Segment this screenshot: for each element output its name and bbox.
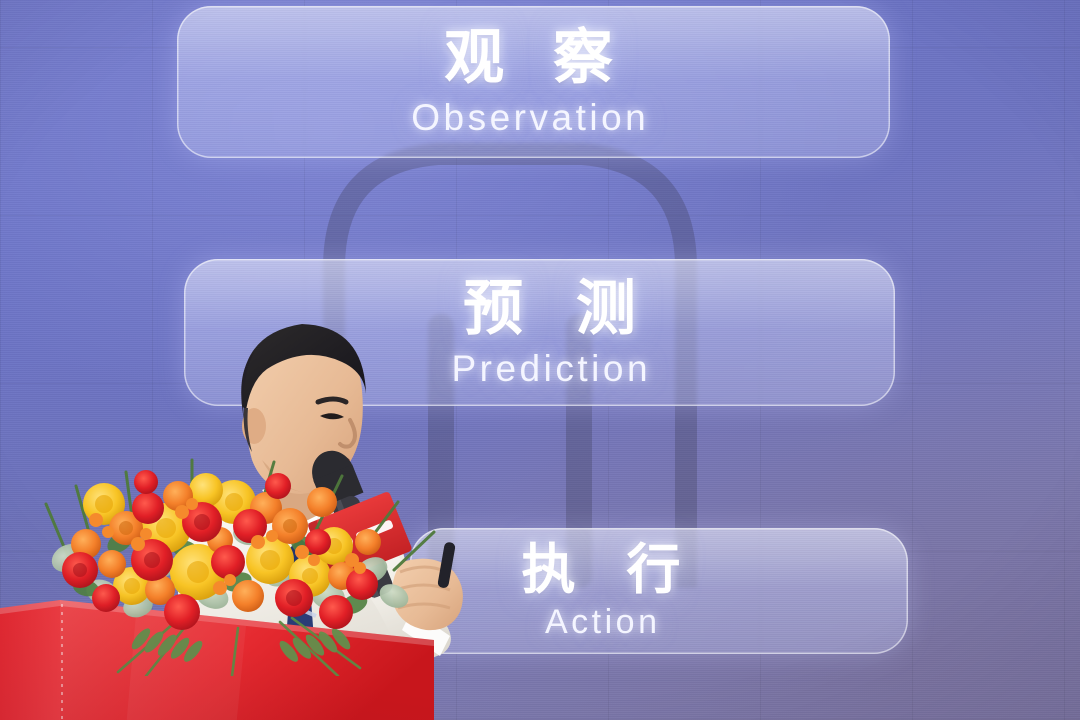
panel-observation-cn: 观 察 [172,28,885,88]
floral-arrangement [42,446,442,676]
panel-observation-en: Observation [172,99,885,136]
panel-observation[interactable]: 观 察 Observation [177,6,890,158]
panel-action[interactable]: 执 行 Action [410,528,908,654]
stage-scene: 观 察 Observation 预 测 Prediction 执 行 Actio… [0,0,1080,720]
panel-observation-content: 观 察 Observation [172,28,885,136]
